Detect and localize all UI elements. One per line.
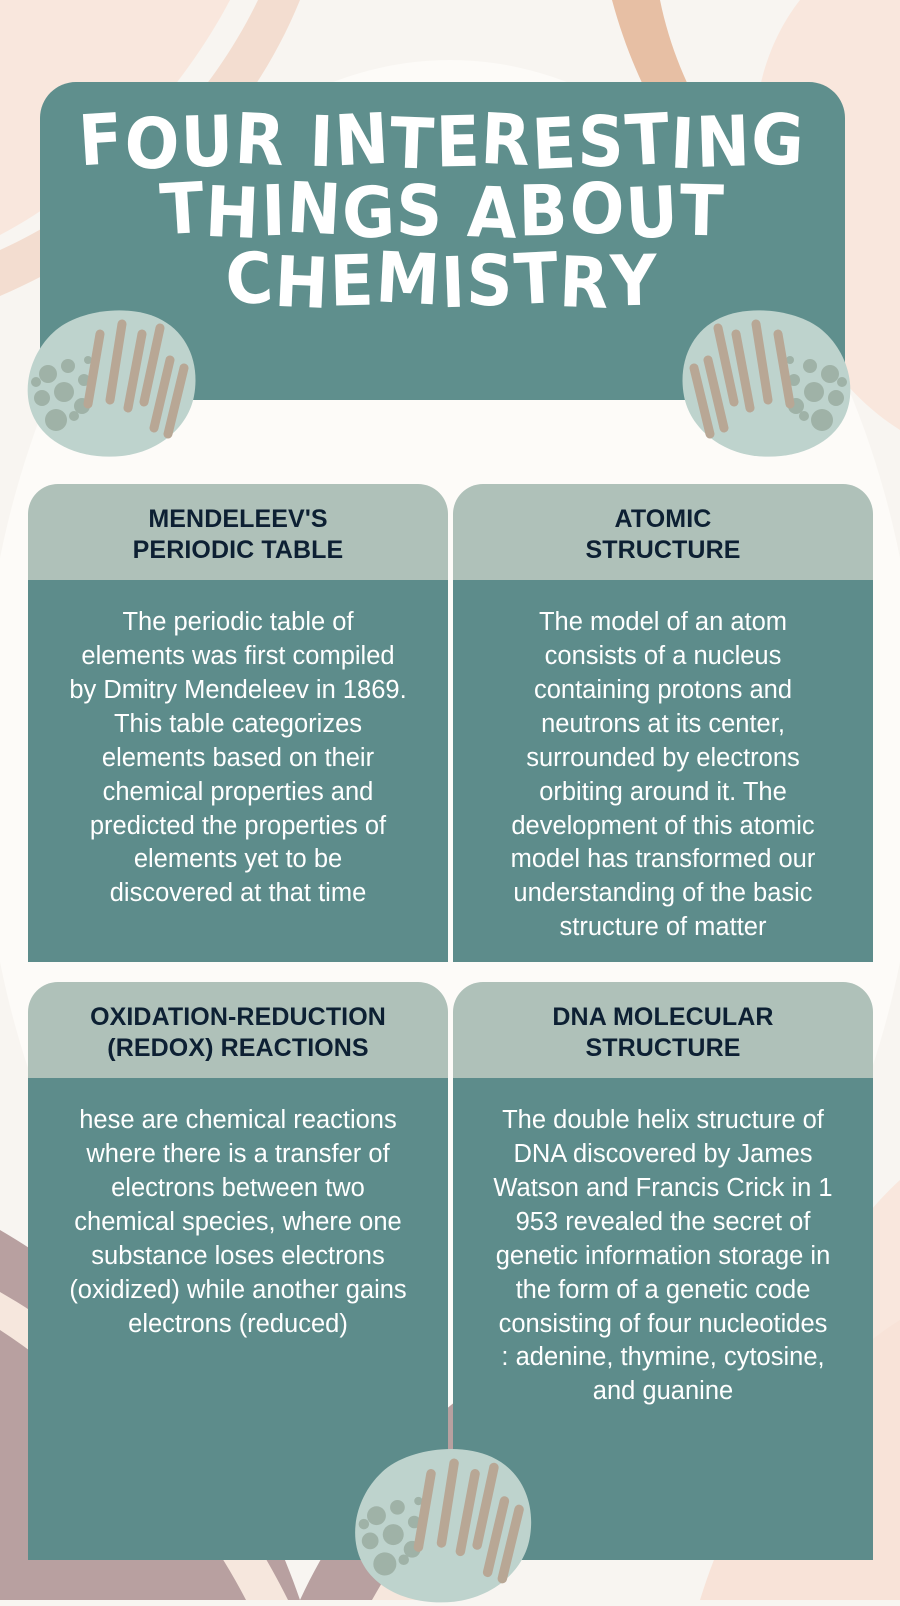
card-body-line: surrounded by electrons	[469, 742, 857, 776]
card-header-line: OXIDATION-REDUCTION	[44, 1002, 432, 1033]
card-body-line: Watson and Francis Crick in 1	[469, 1172, 857, 1206]
card-body-line: : adenine, thymine, cytosine,	[469, 1341, 857, 1375]
card-header-atomic-structure: ATOMIC STRUCTURE	[453, 484, 873, 580]
card-body-line: model has transformed our	[469, 843, 857, 877]
card-body-line: The model of an atom	[469, 606, 857, 640]
card-body-line: genetic information storage in	[469, 1240, 857, 1274]
card-body-line: consists of a nucleus	[469, 640, 857, 674]
fact-card-grid: MENDELEEV'S PERIODIC TABLE The periodic …	[28, 484, 873, 1560]
card-body-line: discovered at that time	[44, 877, 432, 911]
card-body-line: elements based on their	[44, 742, 432, 776]
card-body-line: where there is a transfer of	[44, 1138, 432, 1172]
card-body-line: (oxidized) while another gains	[44, 1274, 432, 1308]
title-line-2: THINGS ABOUT	[32, 177, 853, 246]
card-header-oxidation-reduction-redox-reactions: OXIDATION-REDUCTION (REDOX) REACTIONS	[28, 982, 448, 1078]
card-body-oxidation-reduction-redox-reactions: hese are chemical reactions where there …	[28, 1078, 448, 1560]
card-body-line: chemical species, where one	[44, 1206, 432, 1240]
card-body-dna-molecular-structure: The double helix structure of DNA discov…	[453, 1078, 873, 1560]
card-body-line: the form of a genetic code	[469, 1274, 857, 1308]
card-body-line: elements was first compiled	[44, 640, 432, 674]
title-line-3-text: CHEMISTRY	[226, 247, 659, 316]
card-body-line: 953 revealed the secret of	[469, 1206, 857, 1240]
page-title: FOUR INTERESTING THINGS ABOUT CHEMISTRY	[32, 108, 853, 316]
card-body-line: predicted the properties of	[44, 810, 432, 844]
card-body-line: orbiting around it. The	[469, 776, 857, 810]
title-line-1: FOUR INTERESTING	[32, 108, 853, 177]
card-body-line: and guanine	[469, 1375, 857, 1409]
card-body-line: substance loses electrons	[44, 1240, 432, 1274]
card-header-mendeleevs-periodic-table: MENDELEEV'S PERIODIC TABLE	[28, 484, 448, 580]
title-line-2-text: THINGS ABOUT	[160, 177, 724, 246]
fact-card-oxidation-reduction-redox-reactions: OXIDATION-REDUCTION (REDOX) REACTIONS he…	[28, 982, 448, 1560]
card-body-line: electrons between two	[44, 1172, 432, 1206]
card-body-line: understanding of the basic	[469, 877, 857, 911]
card-body-line: chemical properties and	[44, 776, 432, 810]
card-header-line: ATOMIC	[469, 504, 857, 535]
card-body-line: The periodic table of	[44, 606, 432, 640]
card-body-line: containing protons and	[469, 674, 857, 708]
fact-card-mendeleevs-periodic-table: MENDELEEV'S PERIODIC TABLE The periodic …	[28, 484, 448, 962]
title-banner: FOUR INTERESTING THINGS ABOUT CHEMISTRY	[40, 82, 845, 400]
card-header-dna-molecular-structure: DNA MOLECULAR STRUCTURE	[453, 982, 873, 1078]
card-body-line: structure of matter	[469, 911, 857, 945]
card-body-line: hese are chemical reactions	[44, 1104, 432, 1138]
card-header-line: STRUCTURE	[469, 535, 857, 566]
card-header-line: MENDELEEV'S	[44, 504, 432, 535]
card-header-line: (REDOX) REACTIONS	[44, 1033, 432, 1064]
card-body-mendeleevs-periodic-table: The periodic table of elements was first…	[28, 580, 448, 962]
card-body-line: consisting of four nucleotides	[469, 1308, 857, 1342]
card-body-line: development of this atomic	[469, 810, 857, 844]
card-body-atomic-structure: The model of an atom consists of a nucle…	[453, 580, 873, 962]
card-body-line: elements yet to be	[44, 843, 432, 877]
fact-card-dna-molecular-structure: DNA MOLECULAR STRUCTURE The double helix…	[453, 982, 873, 1560]
card-header-line: STRUCTURE	[469, 1033, 857, 1064]
card-header-line: PERIODIC TABLE	[44, 535, 432, 566]
card-body-line: by Dmitry Mendeleev in 1869.	[44, 674, 432, 708]
card-body-line: This table categorizes	[44, 708, 432, 742]
title-line-3: CHEMISTRY	[32, 247, 853, 316]
fact-card-atomic-structure: ATOMIC STRUCTURE The model of an atom co…	[453, 484, 873, 962]
card-body-line: The double helix structure of	[469, 1104, 857, 1138]
card-body-line: DNA discovered by James	[469, 1138, 857, 1172]
card-body-line: neutrons at its center,	[469, 708, 857, 742]
card-body-line: electrons (reduced)	[44, 1308, 432, 1342]
card-header-line: DNA MOLECULAR	[469, 1002, 857, 1033]
